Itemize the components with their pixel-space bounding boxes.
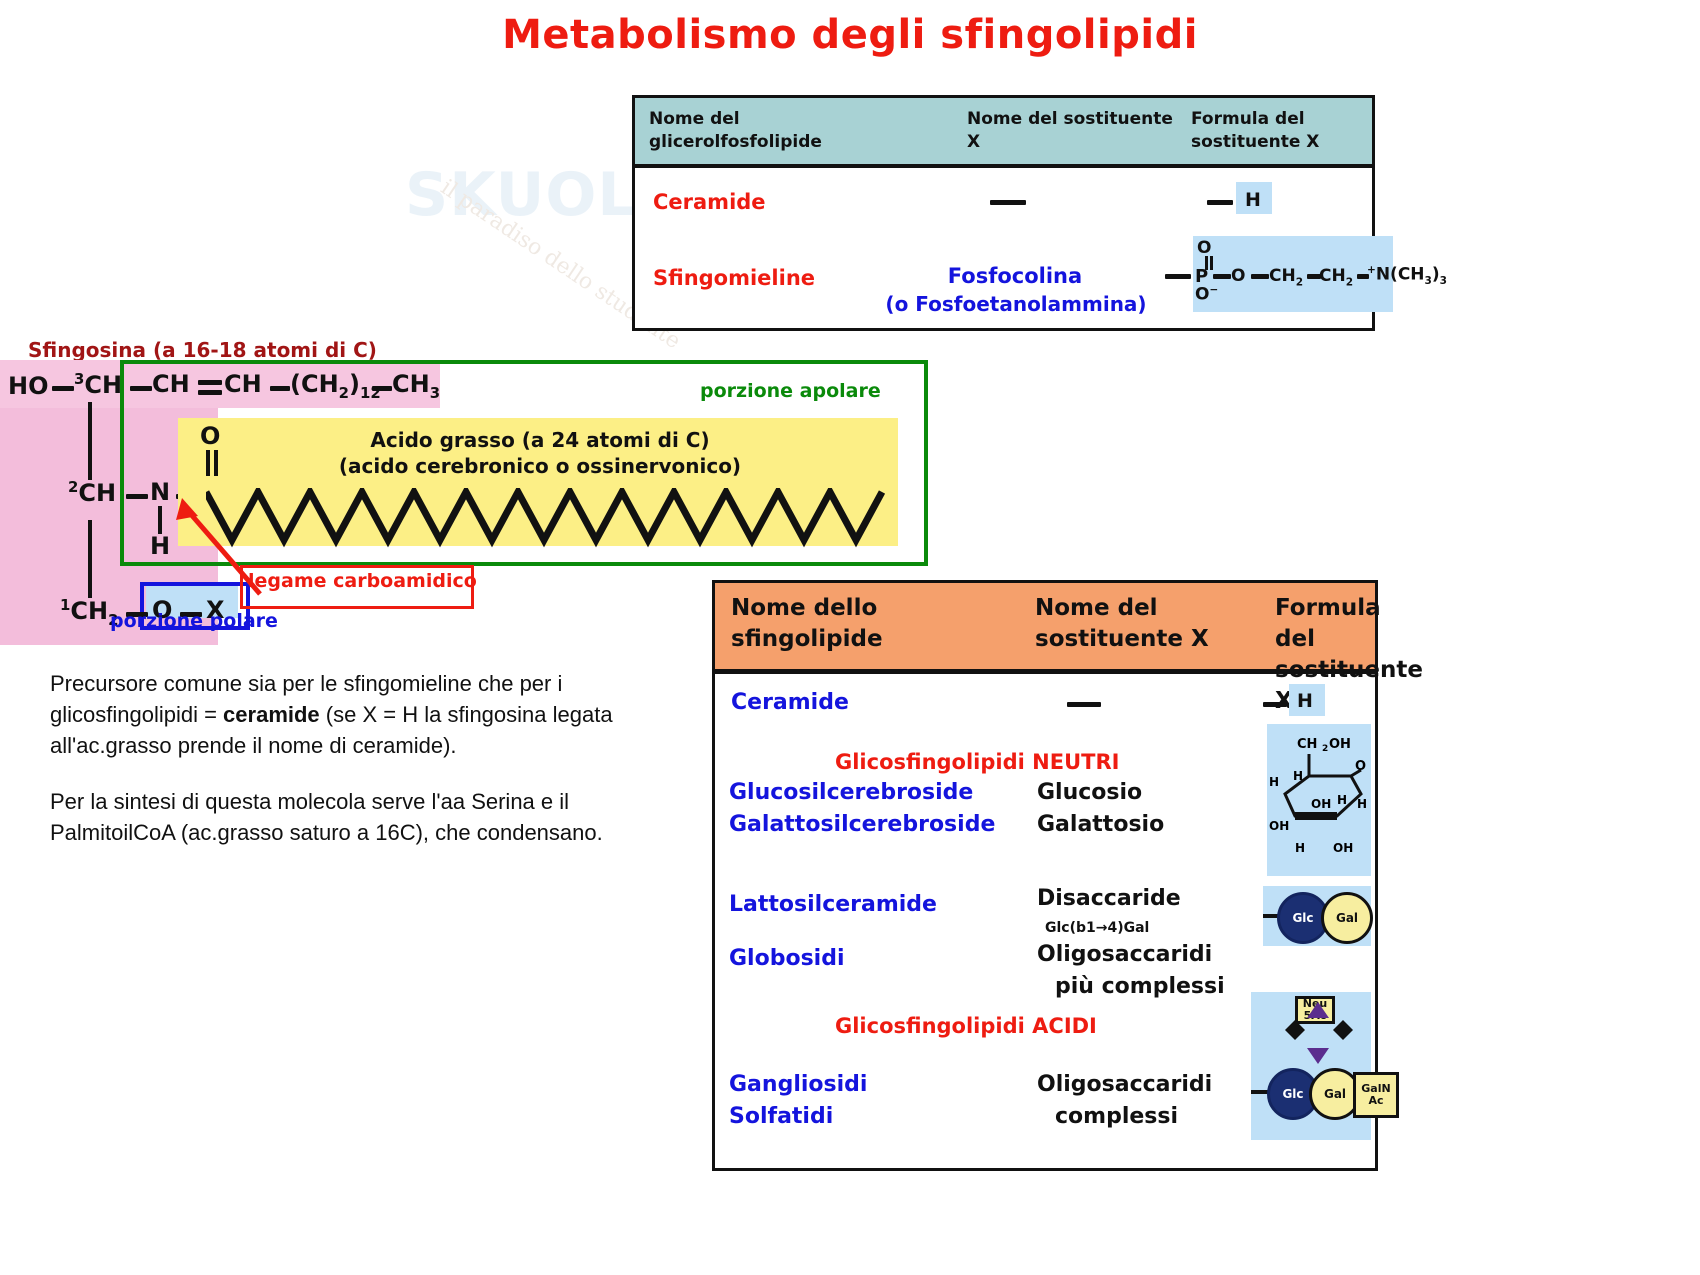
neuac-diamond-icon (1271, 994, 1367, 1068)
dash-icon (1067, 702, 1101, 707)
bond-icon (130, 386, 152, 391)
group-ch3: CH3 (392, 370, 440, 402)
paragraph-2: Per la sintesi di questa molecola serve … (50, 786, 690, 848)
backbone-line (88, 520, 92, 598)
group-ch: CH (152, 370, 190, 398)
column-header-substituent: Nome delsostituente X (1035, 593, 1209, 655)
bond-icon (52, 386, 74, 391)
svg-text:H: H (1293, 769, 1303, 783)
svg-text:CH: CH (1297, 737, 1317, 752)
section-header-neutri: Glicosfingolipidi NEUTRI (835, 750, 1119, 774)
double-bond-line (1210, 256, 1213, 270)
description-text: Precursore comune sia per le sfingomieli… (50, 668, 690, 872)
bond-icon (1207, 200, 1233, 205)
fatty-acid-line1: Acido grasso (a 24 atomi di C) (200, 428, 880, 452)
table-header-row: Nome dellosfingolipide Nome delsostituen… (715, 583, 1375, 674)
row-name: Galattosilcerebroside (729, 812, 995, 837)
glucose-ring-icon: CH 2 OH O H H OH H H OH H OH (1267, 724, 1371, 876)
row-substituent: Oligosaccaridi (1037, 1072, 1212, 1097)
svg-text:2: 2 (1322, 744, 1328, 754)
column-header-name: Nome dellosfingolipide (731, 593, 883, 655)
svg-text:H: H (1269, 775, 1279, 789)
row-name: Ceramide (653, 190, 766, 214)
row-name: Lattosilceramide (729, 892, 937, 917)
formula-h: H (1297, 690, 1313, 712)
atom-ho: HO (8, 372, 49, 400)
row-substituent: Disaccaride (1037, 886, 1181, 911)
group-nch3-3: +N(CH3)3 (1367, 264, 1447, 287)
bond-icon (1165, 274, 1191, 279)
polar-label: porzione polare (110, 610, 278, 632)
carbon-2: 2CH (68, 478, 116, 507)
apolar-label: porzione apolare (700, 380, 881, 402)
column-header-formula: Formula delsostituente X (1191, 108, 1319, 154)
sugar-square-galnac: GalN Ac (1353, 1072, 1399, 1118)
acyl-chain-zigzag (206, 488, 906, 550)
sugar-blob-gal: Gal (1321, 892, 1373, 944)
group-ch: CH (224, 370, 262, 398)
carbon-3: 3CH (74, 370, 122, 399)
dash-icon (990, 200, 1026, 205)
bond-icon (270, 386, 290, 391)
svg-text:H: H (1337, 793, 1347, 807)
row-substituent: complessi (1055, 1104, 1178, 1129)
row-name: Ceramide (731, 690, 849, 715)
bond-icon (1213, 274, 1231, 279)
group-ch2-12: (CH2)12 (290, 370, 381, 402)
bond-icon (372, 386, 392, 391)
glycerophospholipid-table: Nome delglicerolfosfolipide Nome del sos… (632, 95, 1375, 331)
bond-icon (1251, 274, 1269, 279)
column-header-substituent: Nome del sostituenteX (967, 108, 1173, 154)
row-substituent-alt: più complessi (1055, 974, 1225, 999)
paragraph-1: Precursore comune sia per le sfingomieli… (50, 668, 690, 762)
svg-text:OH: OH (1311, 797, 1331, 811)
sphingosine-label: Sfingosina (a 16-18 atomi di C) (28, 338, 377, 362)
row-name: Solfatidi (729, 1104, 833, 1129)
bond-icon (1263, 702, 1287, 707)
backbone-line (88, 402, 92, 480)
page-title: Metabolismo degli sfingolipidi (0, 12, 1700, 58)
paragraph-1-bold: ceramide (223, 702, 320, 727)
svg-text:O: O (1355, 759, 1366, 774)
group-ch2: CH2 (1319, 266, 1353, 288)
svg-text:H: H (1357, 797, 1367, 811)
atom-o-minus: O− (1195, 284, 1218, 305)
svg-text:OH: OH (1329, 737, 1351, 752)
double-bond-icon (198, 390, 222, 395)
svg-text:OH: OH (1269, 819, 1289, 833)
carboamide-label: legame carboamidico (248, 570, 477, 592)
atom-o-carbonyl: O (200, 422, 220, 450)
table-header-row: Nome delglicerolfosfolipide Nome del sos… (635, 98, 1372, 168)
double-bond-icon (198, 380, 222, 385)
svg-text:OH: OH (1333, 841, 1353, 855)
atom-o: O (1231, 266, 1245, 286)
fatty-acid-line2: (acido cerebronico o ossinervonico) (200, 454, 880, 478)
row-substituent-alt: (o Fosfoetanolammina) (885, 292, 1147, 316)
row-name: Glucosilcerebroside (729, 780, 973, 805)
svg-text:H: H (1295, 841, 1305, 855)
sphingolipid-table: Nome dellosfingolipide Nome delsostituen… (712, 580, 1378, 1171)
row-name: Globosidi (729, 946, 845, 971)
group-ch2: CH2 (1269, 266, 1303, 288)
row-substituent-detail: Glc(b1→4)Gal (1045, 920, 1149, 936)
row-substituent: Glucosio (1037, 780, 1142, 805)
row-substituent: Oligosaccaridi (1037, 942, 1212, 967)
double-bond-line (206, 450, 210, 476)
section-header-acidi: Glicosfingolipidi ACIDI (835, 1014, 1097, 1038)
row-substituent: Galattosio (1037, 812, 1164, 837)
formula-h: H (1245, 189, 1261, 211)
atom-o-double: O (1197, 238, 1211, 258)
row-name: Gangliosidi (729, 1072, 867, 1097)
column-header-name: Nome delglicerolfosfolipide (649, 108, 822, 154)
row-name: Sfingomieline (653, 266, 815, 290)
double-bond-line (214, 450, 218, 476)
row-substituent: Fosfocolina (915, 264, 1115, 288)
